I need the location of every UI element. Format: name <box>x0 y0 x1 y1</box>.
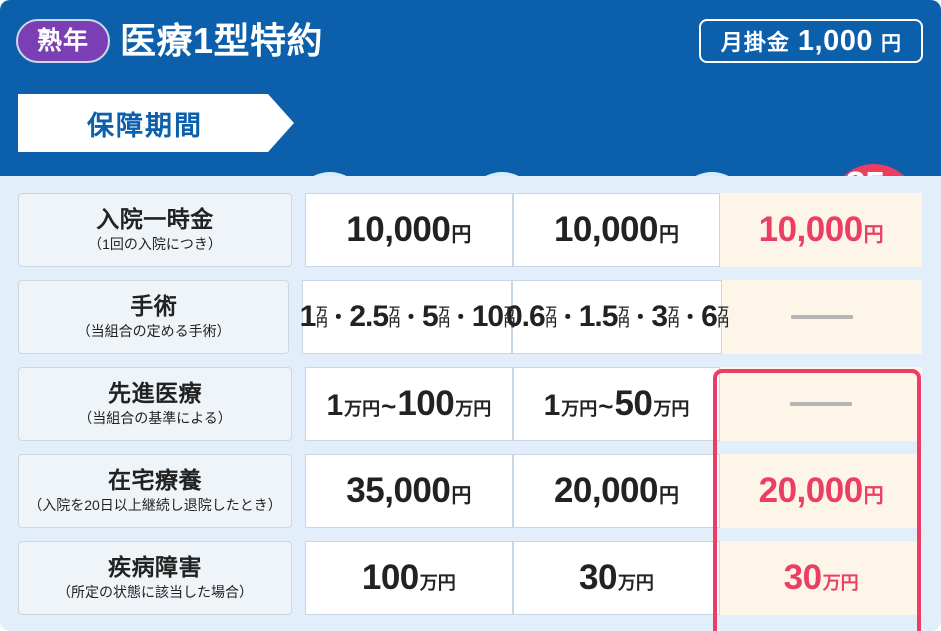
benefit-label-sub: （所定の状態に該当した場合） <box>57 582 253 603</box>
monthly-fee-badge: 月掛金 1,000 円 <box>699 19 923 63</box>
table-row: 疾病障害 （所定の状態に該当した場合） 100 万円 30 万円 <box>18 541 922 615</box>
benefit-value-unit: 円 <box>659 218 679 247</box>
benefit-value-cell-col3-highlight: 30 万円 <box>720 541 922 615</box>
benefit-value-unit: 万円 <box>823 569 859 595</box>
surgery-amount-2: 1.5 <box>579 300 618 334</box>
benefit-label-main: 在宅療養 <box>108 466 202 495</box>
monthly-fee-label: 月掛金 <box>721 25 790 57</box>
benefit-value-cell-col3-highlight: 10,000 円 <box>720 193 922 267</box>
benefit-range-to: 100 <box>397 384 454 424</box>
benefit-value-number: 100 <box>362 558 419 598</box>
benefit-value-unit: 円 <box>864 218 884 247</box>
benefit-value-number: 20,000 <box>759 471 863 511</box>
surgery-unit-stack: 万 円 <box>316 307 327 329</box>
benefit-value-unit: 円 <box>659 479 679 508</box>
benefit-value-unit: 万円 <box>618 569 654 595</box>
surgery-separator: ・ <box>328 301 348 330</box>
surgery-unit-stack: 万 円 <box>668 307 679 329</box>
benefit-value-number: 35,000 <box>346 471 450 511</box>
benefit-value-number: 10,000 <box>759 210 863 250</box>
benefit-value-cell-col2: 0.6 万 円 ・ 1.5 万 円 ・ 3 <box>512 280 722 354</box>
table-row: 手術 （当組合の定める手術） 1 万 円 ・ 2.5 万 円 <box>18 280 922 354</box>
benefit-value-number: 10,000 <box>346 210 450 250</box>
surgery-amount-3: 5 <box>422 300 438 334</box>
surgery-separator: ・ <box>558 301 578 330</box>
plan-category-badge: 熟年 <box>16 19 110 63</box>
benefit-value-cell-col2: 20,000 円 <box>513 454 721 528</box>
benefit-value-unit: 円 <box>451 479 471 508</box>
surgery-unit-stack: 万 円 <box>718 307 729 329</box>
benefit-label-main: 先進医療 <box>108 379 202 408</box>
surgery-unit-yen: 円 <box>316 318 327 329</box>
benefit-label-main: 入院一時金 <box>96 205 214 234</box>
benefit-value-number: 10,000 <box>554 210 658 250</box>
surgery-separator: ・ <box>680 301 700 330</box>
benefit-value-number: 20,000 <box>554 471 658 511</box>
benefits-table-rows: 入院一時金 （1回の入院につき） 10,000 円 10,000 円 <box>18 193 922 615</box>
surgery-separator: ・ <box>401 301 421 330</box>
benefit-range-from: 1 <box>544 389 561 423</box>
benefit-label-cell: 在宅療養 （入院を20日以上継続し退院したとき） <box>18 454 292 528</box>
benefit-value-number: 30 <box>784 558 822 598</box>
benefit-value-unit: 円 <box>451 218 471 247</box>
benefit-value: 10,000 円 <box>346 210 471 250</box>
benefit-label-cell: 入院一時金 （1回の入院につき） <box>18 193 292 267</box>
benefit-label-sub: （当組合の基準による） <box>78 408 232 429</box>
surgery-unit-yen: 円 <box>618 318 629 329</box>
surgery-unit-stack: 万 円 <box>618 307 629 329</box>
surgery-unit-stack: 万 円 <box>389 307 400 329</box>
benefit-range-to-unit: 万円 <box>653 395 689 421</box>
benefit-value-number: 30 <box>579 558 617 598</box>
benefit-value: 10,000 円 <box>554 210 679 250</box>
no-benefit-dash-icon <box>791 315 853 319</box>
monthly-fee-amount: 1,000 <box>798 25 873 58</box>
benefit-value: 10,000 円 <box>759 210 884 250</box>
surgery-amount-4: 10 <box>472 300 503 334</box>
benefit-value: 30 万円 <box>579 558 654 598</box>
benefit-value-cell-col2: 1 万円 ~ 50 万円 <box>513 367 721 441</box>
surgery-unit-yen: 円 <box>668 318 679 329</box>
coverage-period-banner: 保障期間 <box>18 94 294 152</box>
benefit-range-tilde: ~ <box>598 391 613 422</box>
benefit-range-from-unit: 万円 <box>561 395 597 421</box>
benefit-value-cell-col1: 1 万 円 ・ 2.5 万 円 ・ 5 <box>302 280 512 354</box>
benefit-label-sub: （入院を20日以上継続し退院したとき） <box>28 495 282 516</box>
table-row: 入院一時金 （1回の入院につき） 10,000 円 10,000 円 <box>18 193 922 267</box>
benefit-value: 20,000 円 <box>759 471 884 511</box>
surgery-unit-yen: 円 <box>718 318 729 329</box>
card-header: 熟年 医療1型特約 月掛金 1,000 円 保障期間 65 歳 70 歳 <box>0 0 941 176</box>
benefit-value-cell-col1: 10,000 円 <box>305 193 513 267</box>
benefit-value-cell-col3-highlight <box>722 280 922 354</box>
benefit-range-to: 50 <box>614 384 652 424</box>
benefit-value: 30 万円 <box>784 558 859 598</box>
benefit-value-cell-col2: 30 万円 <box>513 541 721 615</box>
benefit-value: 0.6 万 円 ・ 1.5 万 円 ・ 3 <box>506 300 729 334</box>
monthly-fee-unit: 円 <box>881 27 901 56</box>
no-benefit-dash-icon <box>790 402 852 406</box>
surgery-unit-yen: 円 <box>389 318 400 329</box>
benefit-value: 35,000 円 <box>346 471 471 511</box>
surgery-separator: ・ <box>451 301 471 330</box>
benefit-range-from: 1 <box>326 389 343 423</box>
surgery-unit-stack: 万 円 <box>439 307 450 329</box>
surgery-amount-3: 3 <box>651 300 667 334</box>
benefit-value: 1 万円 ~ 50 万円 <box>544 384 690 424</box>
benefit-value-cell-col1: 100 万円 <box>305 541 513 615</box>
coverage-timeline: 保障期間 65 歳 70 歳 80 歳 <box>0 82 941 176</box>
surgery-unit-stack: 万 円 <box>546 307 557 329</box>
benefit-label-sub: （1回の入院につき） <box>88 234 222 255</box>
page-title: 医療1型特約 <box>120 14 323 68</box>
benefit-range-to-unit: 万円 <box>455 395 491 421</box>
surgery-unit-yen: 円 <box>504 318 515 329</box>
benefit-label-cell: 先進医療 （当組合の基準による） <box>18 367 292 441</box>
table-row: 在宅療養 （入院を20日以上継続し退院したとき） 35,000 円 20,000… <box>18 454 922 528</box>
surgery-amount-4: 6 <box>701 300 717 334</box>
benefit-range-tilde: ~ <box>381 391 396 422</box>
benefit-value-unit: 円 <box>864 479 884 508</box>
benefit-value-cell-col3-highlight: 20,000 円 <box>720 454 922 528</box>
benefit-value: 1 万 円 ・ 2.5 万 円 ・ 5 <box>300 300 515 334</box>
table-row: 先進医療 （当組合の基準による） 1 万円 ~ 100 万円 1 万円 <box>18 367 922 441</box>
benefit-value-cell-col1: 1 万円 ~ 100 万円 <box>305 367 513 441</box>
surgery-unit-yen: 円 <box>439 318 450 329</box>
benefit-value-cell-col3-highlight <box>720 367 922 441</box>
header-top-bar: 熟年 医療1型特約 月掛金 1,000 円 <box>0 0 941 82</box>
surgery-amount-1: 1 <box>300 300 316 334</box>
benefit-label-cell: 疾病障害 （所定の状態に該当した場合） <box>18 541 292 615</box>
benefit-value-cell-col1: 35,000 円 <box>305 454 513 528</box>
benefit-label-sub: （当組合の定める手術） <box>77 321 231 342</box>
benefit-value: 1 万円 ~ 100 万円 <box>326 384 491 424</box>
benefit-label-main: 疾病障害 <box>108 553 202 582</box>
surgery-amount-2: 2.5 <box>349 300 388 334</box>
surgery-unit-yen: 円 <box>546 318 557 329</box>
surgery-separator: ・ <box>630 301 650 330</box>
benefit-value: 20,000 円 <box>554 471 679 511</box>
benefit-value: 100 万円 <box>362 558 456 598</box>
benefit-range-from-unit: 万円 <box>344 395 380 421</box>
insurance-plan-card: 熟年 医療1型特約 月掛金 1,000 円 保障期間 65 歳 70 歳 <box>0 0 941 631</box>
benefit-label-main: 手術 <box>130 292 177 321</box>
surgery-unit-stack: 万 円 <box>504 307 515 329</box>
benefits-table: 入院一時金 （1回の入院につき） 10,000 円 10,000 円 <box>0 176 941 631</box>
benefit-value-cell-col2: 10,000 円 <box>513 193 721 267</box>
benefit-label-cell: 手術 （当組合の定める手術） <box>18 280 289 354</box>
benefit-value-unit: 万円 <box>420 569 456 595</box>
